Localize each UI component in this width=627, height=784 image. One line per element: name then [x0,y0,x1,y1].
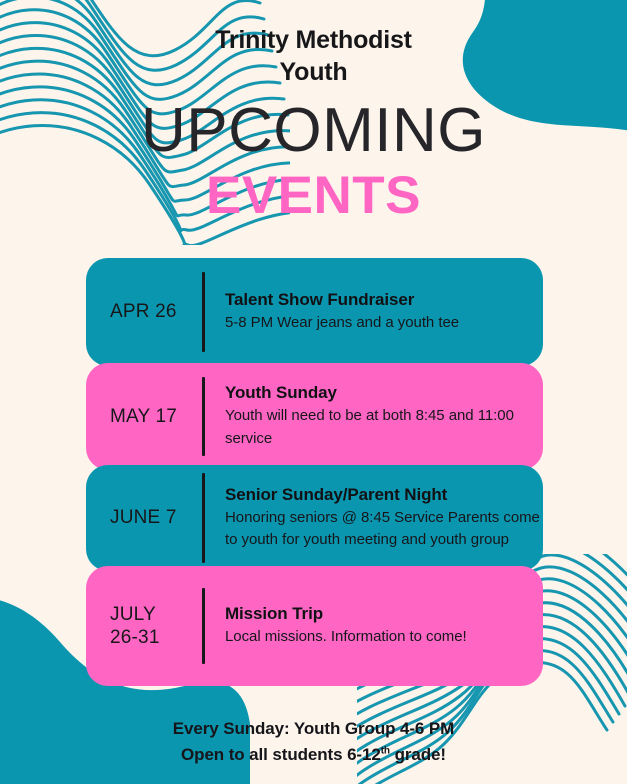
event-title: Youth Sunday [225,382,543,405]
event-date: MAY 17 [110,405,202,428]
event-card[interactable]: APR 26 Talent Show Fundraiser 5-8 PM Wea… [86,258,543,366]
event-title: Mission Trip [225,603,543,626]
event-title: Senior Sunday/Parent Night [225,484,543,507]
footer-line-1: Every Sunday: Youth Group 4-6 PM [0,716,627,742]
event-description: Honoring seniors @ 8:45 Service Parents … [225,507,543,553]
event-card[interactable]: JULY 26-31 Mission Trip Local missions. … [86,566,543,686]
footer-line-2-prefix: Open to all students 6-12 [181,745,381,764]
event-description: Local missions. Information to come! [225,626,543,649]
event-body: Talent Show Fundraiser 5-8 PM Wear jeans… [205,289,543,335]
event-body: Youth Sunday Youth will need to be at bo… [205,382,543,451]
event-description: 5-8 PM Wear jeans and a youth tee [225,312,543,335]
event-body: Senior Sunday/Parent Night Honoring seni… [205,484,543,553]
event-list: APR 26 Talent Show Fundraiser 5-8 PM Wea… [0,0,627,784]
event-date: JULY 26-31 [110,603,202,649]
event-description: Youth will need to be at both 8:45 and 1… [225,405,543,451]
footer-ordinal-suffix: th [381,745,390,756]
event-card[interactable]: MAY 17 Youth Sunday Youth will need to b… [86,363,543,470]
footer-line-2: Open to all students 6-12th grade! [0,742,627,768]
event-date: APR 26 [110,300,202,323]
event-date: JUNE 7 [110,506,202,529]
event-body: Mission Trip Local missions. Information… [205,603,543,649]
poster-canvas: Trinity Methodist Youth UPCOMING EVENTS … [0,0,627,784]
poster-footer: Every Sunday: Youth Group 4-6 PM Open to… [0,716,627,767]
event-card[interactable]: JUNE 7 Senior Sunday/Parent Night Honori… [86,465,543,571]
footer-line-2-suffix: grade! [390,745,446,764]
event-title: Talent Show Fundraiser [225,289,543,312]
